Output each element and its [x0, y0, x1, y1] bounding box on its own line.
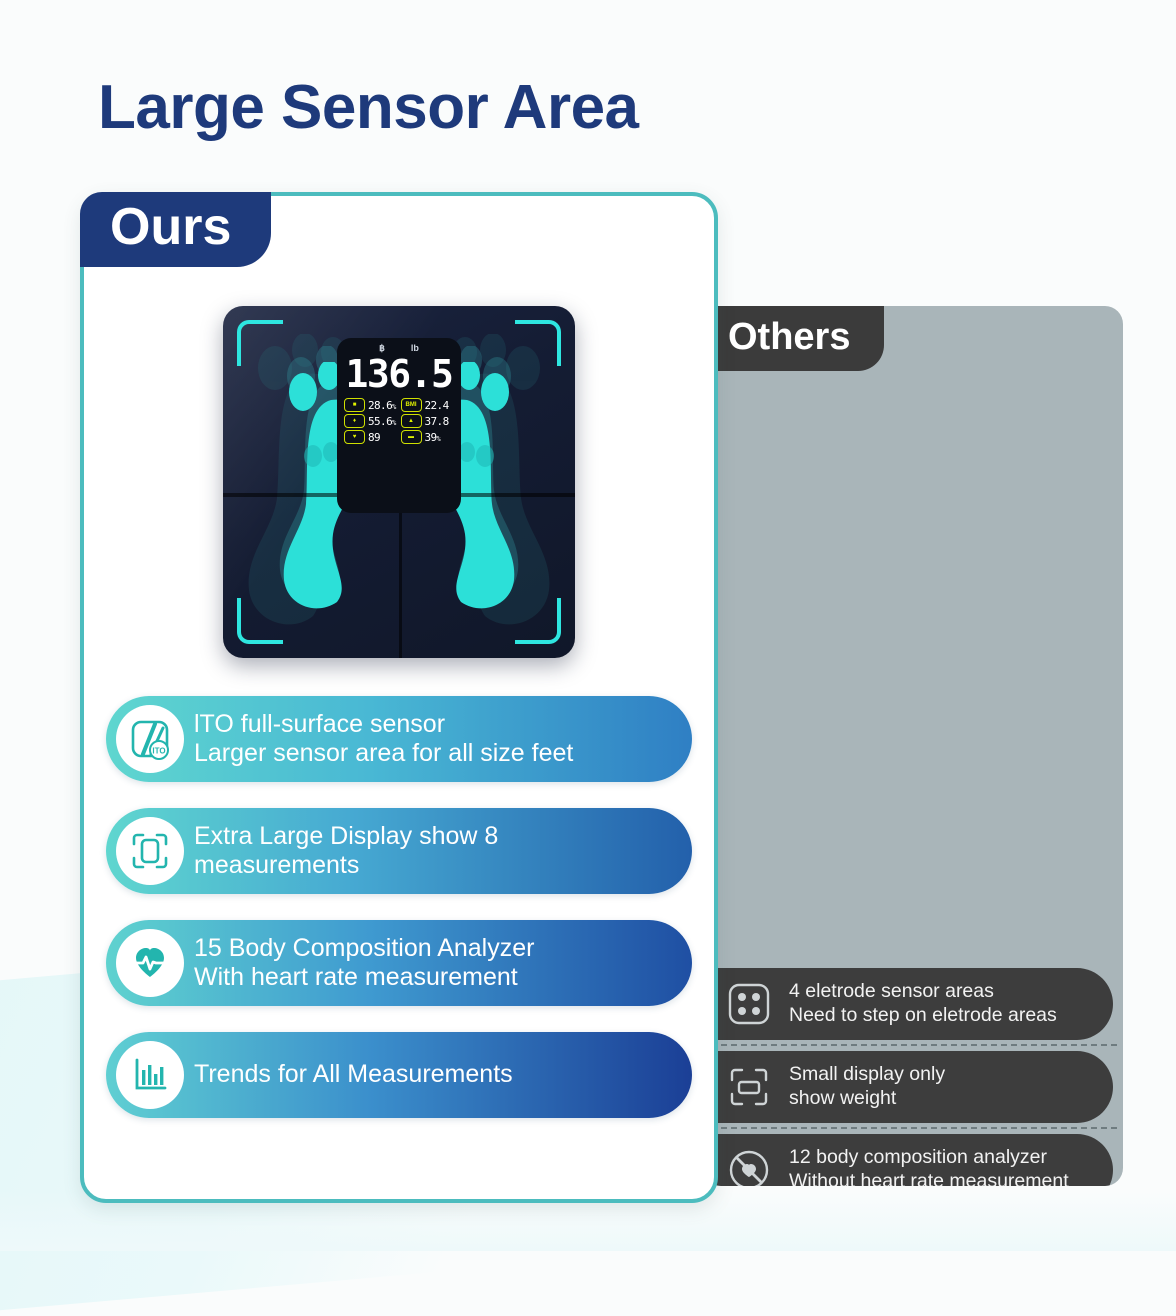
corner-bracket-bottom-right — [515, 598, 561, 644]
others-feature-pill[interactable]: 4 eletrode sensor areas Need to step on … — [703, 968, 1113, 1040]
ours-feature-line1: Extra Large Display show 8 — [194, 822, 498, 850]
others-feature-pill[interactable]: 12 body composition analyzer Without hea… — [703, 1134, 1113, 1186]
ours-feature-list: ITO lTO full-surface sensor Larger senso… — [106, 696, 692, 1144]
bmi-icon: BMI — [401, 398, 422, 412]
bone-icon: ▬ — [401, 430, 422, 444]
ours-feature-pill[interactable]: Extra Large Display show 8 measurements — [106, 808, 692, 894]
others-feature-row[interactable]: Small display only show weight — [703, 1051, 1123, 1134]
others-feature-line2: Without heart rate measurement — [789, 1170, 1069, 1186]
page-title: Large Sensor Area — [98, 72, 639, 143]
others-badge: Others — [703, 306, 884, 371]
lcd-metric-value: 39% — [425, 431, 441, 444]
ours-feature-text: lTO full-surface sensor Larger sensor ar… — [194, 710, 587, 769]
lcd-metric-cell: ♥ 89 — [344, 430, 398, 444]
others-feature-pill[interactable]: Small display only show weight — [703, 1051, 1113, 1123]
lcd-weight-value: 136.5 — [337, 355, 461, 393]
others-feature-list: 4 eletrode sensor areas Need to step on … — [703, 968, 1123, 1186]
ours-feature-line1: 15 Body Composition Analyzer — [194, 934, 534, 962]
corner-bracket-top-left — [237, 320, 283, 366]
others-feature-line2: Need to step on eletrode areas — [789, 1004, 1057, 1028]
muscle-icon: ▲ — [401, 414, 422, 428]
others-feature-line1: Small display only — [789, 1063, 945, 1085]
ours-feature-line2: Larger sensor area for all size feet — [194, 739, 573, 769]
others-feature-row[interactable]: 12 body composition analyzer Without hea… — [703, 1134, 1123, 1186]
ours-feature-line2: With heart rate measurement — [194, 963, 534, 993]
lcd-metric-value: 37.8 — [425, 415, 449, 428]
lcd-metric-cell: ■ 28.6% — [344, 398, 398, 412]
ours-panel: ฿ lb 136.5 ■ 28.6% BMI 22.4 ♦ 55.6% — [80, 192, 718, 1203]
ours-feature-pill[interactable]: Trends for All Measurements — [106, 1032, 692, 1118]
others-feature-text: 12 body composition analyzer Without hea… — [789, 1146, 1069, 1186]
scale-seam-vertical — [399, 493, 402, 658]
others-feature-text: Small display only show weight — [789, 1063, 945, 1111]
others-panel: 68.8 — [703, 306, 1123, 1186]
lcd-metric-value: 55.6% — [368, 415, 396, 428]
small-display-icon — [723, 1061, 775, 1113]
others-divider — [711, 1044, 1117, 1046]
no-heart-rate-icon — [723, 1144, 775, 1186]
heart-rate-icon: ♥ — [344, 430, 365, 444]
others-feature-line1: 12 body composition analyzer — [789, 1146, 1047, 1168]
corner-bracket-top-right — [515, 320, 561, 366]
ours-scale-image: ฿ lb 136.5 ■ 28.6% BMI 22.4 ♦ 55.6% — [84, 296, 714, 668]
lcd-metric-cell: BMI 22.4 — [401, 398, 455, 412]
others-feature-line2: show weight — [789, 1087, 945, 1111]
others-feature-row[interactable]: 4 eletrode sensor areas Need to step on … — [703, 968, 1123, 1051]
ours-feature-line2: measurements — [194, 851, 498, 881]
lcd-metrics-grid: ■ 28.6% BMI 22.4 ♦ 55.6% ▲ 37.8 — [337, 393, 461, 444]
ours-feature-pill[interactable]: ITO lTO full-surface sensor Larger senso… — [106, 696, 692, 782]
ours-feature-text: 15 Body Composition Analyzer With heart … — [194, 934, 548, 993]
lcd-metric-value: 28.6% — [368, 399, 396, 412]
bar-chart-icon — [116, 1041, 184, 1109]
ours-feature-line1: lTO full-surface sensor — [194, 710, 445, 738]
lcd-metric-cell: ♦ 55.6% — [344, 414, 398, 428]
ours-scale: ฿ lb 136.5 ■ 28.6% BMI 22.4 ♦ 55.6% — [223, 306, 575, 658]
others-feature-line1: 4 eletrode sensor areas — [789, 980, 994, 1002]
large-display-icon — [116, 817, 184, 885]
body-fat-icon: ■ — [344, 398, 365, 412]
lcd-metric-cell: ▲ 37.8 — [401, 414, 455, 428]
water-icon: ♦ — [344, 414, 365, 428]
ours-feature-line1: Trends for All Measurements — [194, 1060, 513, 1088]
ours-feature-text: Trends for All Measurements — [194, 1060, 527, 1090]
ours-feature-text: Extra Large Display show 8 measurements — [194, 822, 512, 881]
svg-text:ITO: ITO — [152, 747, 165, 756]
ours-feature-pill[interactable]: 15 Body Composition Analyzer With heart … — [106, 920, 692, 1006]
ito-sensor-icon: ITO — [116, 705, 184, 773]
lcd-metric-cell: ▬ 39% — [401, 430, 455, 444]
others-divider — [711, 1127, 1117, 1129]
others-feature-text: 4 eletrode sensor areas Need to step on … — [789, 980, 1057, 1028]
lcd-user-indicators — [337, 444, 461, 450]
four-electrodes-icon — [723, 978, 775, 1030]
scale-lcd-display: ฿ lb 136.5 ■ 28.6% BMI 22.4 ♦ 55.6% — [337, 338, 461, 513]
lcd-metric-value: 89 — [368, 431, 380, 444]
ours-badge: Ours — [80, 192, 271, 267]
heart-rate-icon — [116, 929, 184, 997]
lcd-metric-value: 22.4 — [425, 399, 449, 412]
corner-bracket-bottom-left — [237, 598, 283, 644]
